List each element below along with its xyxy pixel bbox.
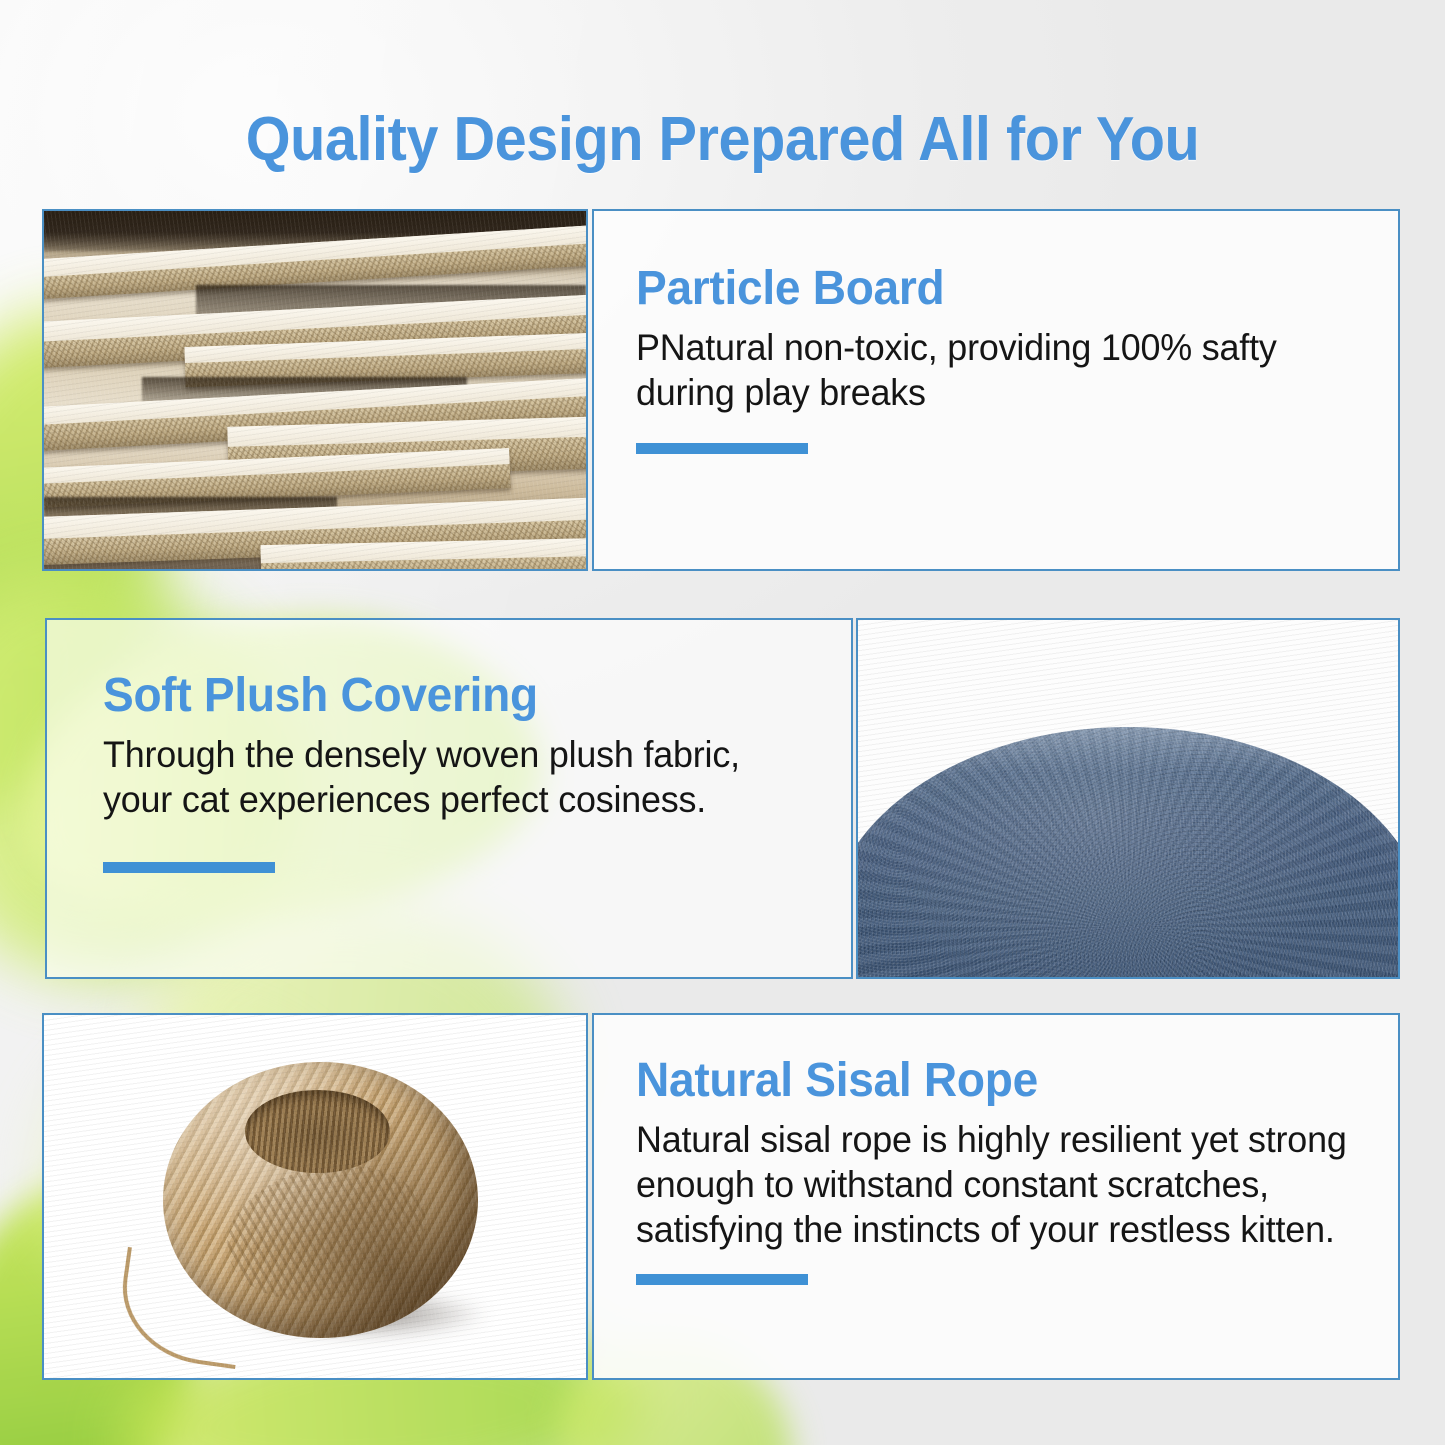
sisal-rope-ball-photo: [44, 1015, 586, 1378]
blue-plush-fabric-photo: [858, 620, 1398, 977]
card-sisal-rope-image-panel: [42, 1013, 588, 1380]
card-particle-board-image-panel: [42, 209, 588, 571]
card-sisal-rope-text-panel: Natural Sisal Rope Natural sisal rope is…: [592, 1013, 1400, 1380]
card-body-sisal-rope: Natural sisal rope is highly resilient y…: [636, 1117, 1350, 1252]
card-heading-sisal-rope: Natural Sisal Rope: [636, 1055, 1343, 1107]
accent-bar-particle-board: [636, 443, 808, 454]
card-body-soft-plush: Through the densely woven plush fabric, …: [103, 732, 782, 822]
card-soft-plush-text-panel: Soft Plush Covering Through the densely …: [45, 618, 853, 979]
particle-board-photo: [44, 211, 586, 569]
card-heading-soft-plush: Soft Plush Covering: [103, 670, 796, 722]
card-soft-plush-image-panel: [856, 618, 1400, 979]
accent-bar-sisal-rope: [636, 1274, 808, 1285]
page-title: Quality Design Prepared All for You: [51, 104, 1395, 175]
card-particle-board-text-panel: Particle Board PNatural non-toxic, provi…: [592, 209, 1400, 571]
accent-bar-soft-plush: [103, 862, 275, 873]
card-body-particle-board: PNatural non-toxic, providing 100% safty…: [636, 325, 1350, 415]
infographic-canvas: Quality Design Prepared All for You: [0, 0, 1445, 1445]
card-heading-particle-board: Particle Board: [636, 263, 1343, 315]
